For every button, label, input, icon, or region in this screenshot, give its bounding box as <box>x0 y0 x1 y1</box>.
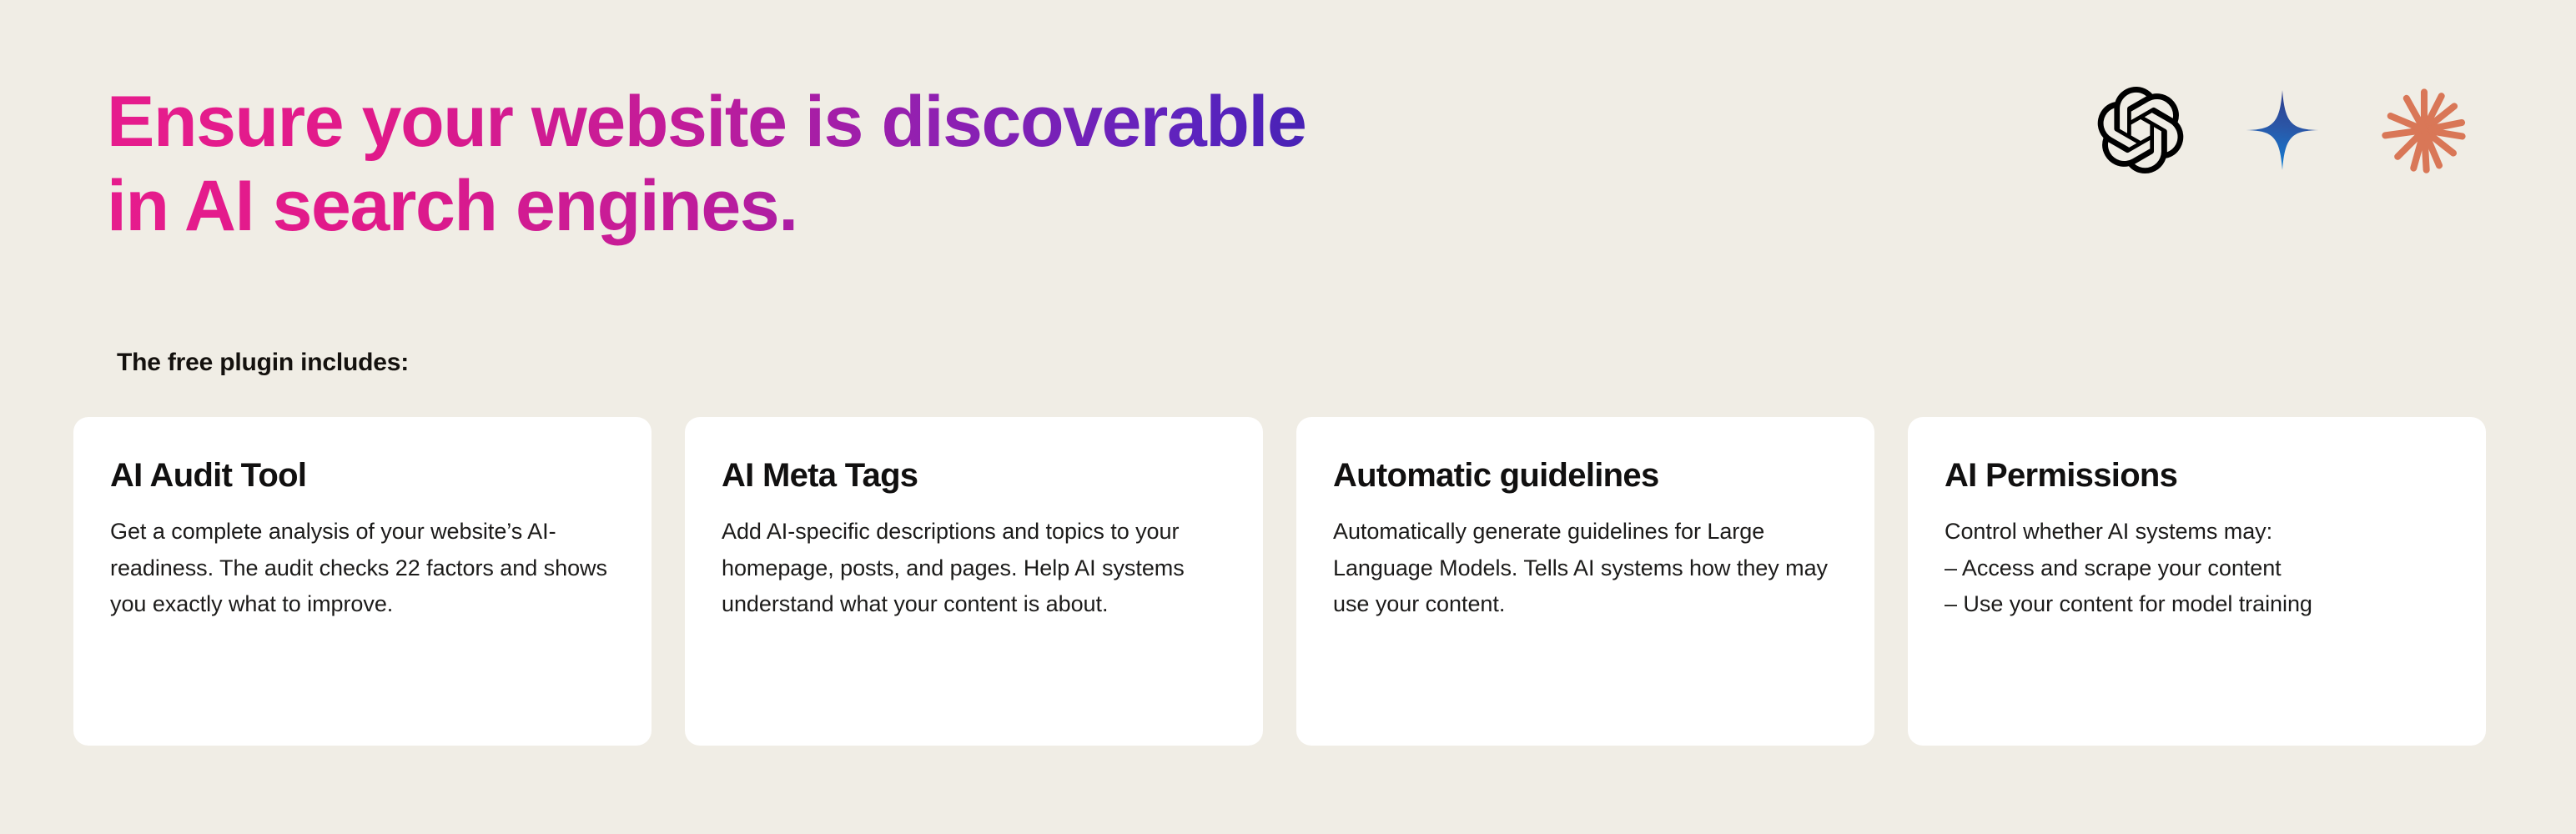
card-body: Add AI-specific descriptions and topics … <box>722 514 1226 623</box>
card-title: AI Audit Tool <box>110 457 615 494</box>
card-title: AI Permissions <box>1945 457 2449 494</box>
feature-card-grid: AI Audit Tool Get a complete analysis of… <box>73 417 2486 746</box>
plugin-includes-label: The free plugin includes: <box>117 349 409 377</box>
feature-card-ai-audit-tool: AI Audit Tool Get a complete analysis of… <box>73 417 652 746</box>
card-body: Get a complete analysis of your website’… <box>110 514 615 623</box>
headline-line-1: Ensure your website is discoverable <box>107 80 1742 164</box>
gemini-sparkle-icon <box>2237 85 2327 175</box>
headline-line-2: in AI search engines. <box>107 164 1742 249</box>
feature-card-ai-permissions: AI Permissions Control whether AI system… <box>1908 417 2486 746</box>
feature-card-automatic-guidelines: Automatic guidelines Automatically gener… <box>1296 417 1874 746</box>
card-body: Automatically generate guidelines for La… <box>1333 514 1838 623</box>
card-title: AI Meta Tags <box>722 457 1226 494</box>
openai-logo-icon <box>2096 85 2186 175</box>
hero-banner: Ensure your website is discoverable in A… <box>0 0 2576 834</box>
page-headline: Ensure your website is discoverable in A… <box>107 80 1742 249</box>
card-title: Automatic guidelines <box>1333 457 1838 494</box>
claude-starburst-icon <box>2379 85 2469 175</box>
ai-platform-logo-row <box>2096 80 2469 180</box>
card-body: Control whether AI systems may: – Access… <box>1945 514 2449 623</box>
feature-card-ai-meta-tags: AI Meta Tags Add AI-specific description… <box>685 417 1263 746</box>
